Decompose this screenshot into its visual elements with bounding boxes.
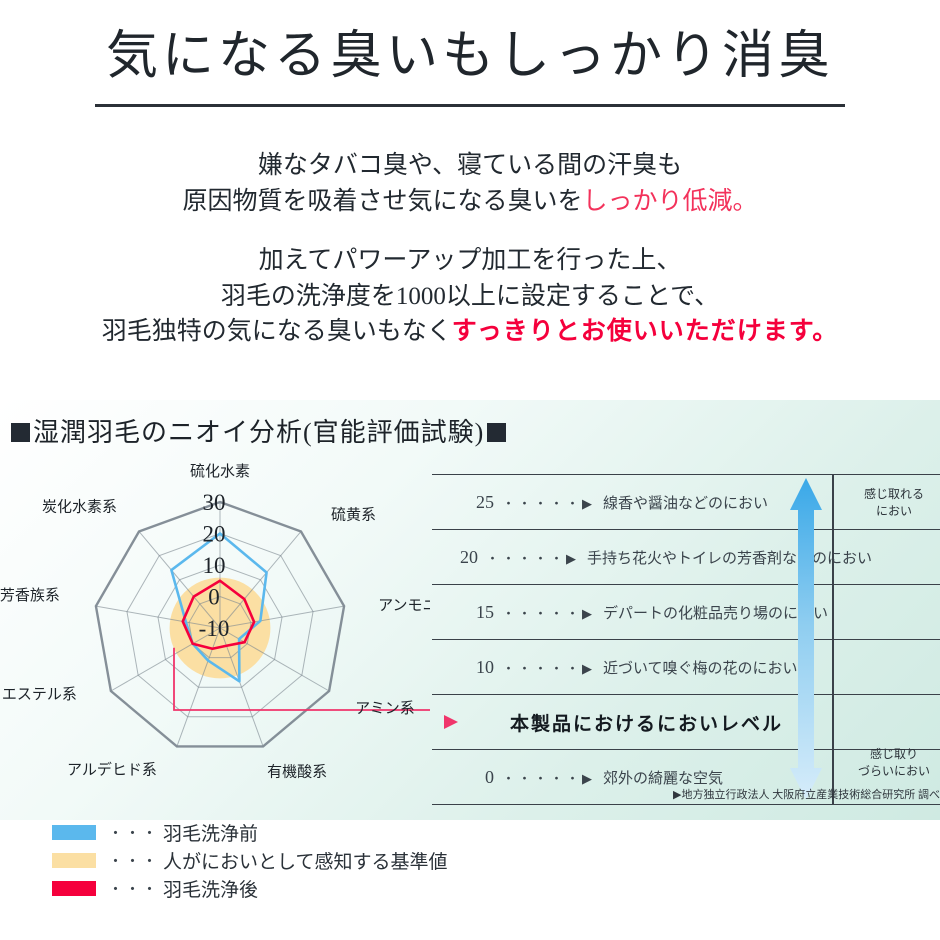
legend-label: 人がにおいとして感知する基準値 (163, 847, 447, 874)
scale-row: 10・・・・・▶近づいて嗅ぐ梅の花のにおい (432, 639, 832, 695)
legend-label: 羽毛洗浄後 (163, 875, 258, 902)
scale-description: 郊外の綺麗な空気 (603, 767, 723, 788)
copy1-line1: 嫌なタバコ臭や、寝ている間の汗臭も (0, 148, 940, 184)
square-marker-right-icon (487, 423, 506, 442)
legend-swatch (52, 825, 96, 840)
section-heading: 湿潤羽毛のニオイ分析(官能評価試験) (8, 412, 509, 449)
copy2-line3-plain: 羽毛独特の気になる臭いもなく (102, 318, 452, 345)
title-divider (95, 104, 845, 107)
legend-dots-icon: ・・・ (108, 822, 159, 843)
legend-dots-icon: ・・・ (108, 878, 159, 899)
radar-category-label: 有機酸系 (267, 763, 327, 780)
scale-row: 20・・・・・▶手持ち花火やトイレの芳香剤などのにおい (432, 529, 832, 585)
body-copy-block-2: 加えてパワーアップ加工を行った上、 羽毛の洗浄度を1000以上に設定することで、… (0, 243, 940, 350)
radar-category-label: 硫化水素 (190, 463, 250, 480)
caption-imperceptible-odor: 感じ取り づらいにおい (844, 746, 940, 781)
source-credit: ▶地方独立行政法人 大阪府立産業技術総合研究所 調べ (432, 786, 940, 802)
legend-item: ・・・人がにおいとして感知する基準値 (52, 846, 447, 874)
radar-category-label: アンモニア (378, 598, 430, 614)
radar-tick-label: 30 (203, 490, 226, 515)
scale-row-right-cell (832, 584, 940, 640)
radar-category-label: エステル系 (2, 686, 77, 703)
copy2-line3: 羽毛独特の気になる臭いもなくすっきりとお使いいただけます。 (0, 314, 940, 350)
radar-category-label: 硫黄系 (331, 506, 376, 523)
copy1-line2: 原因物質を吸着させ気になる臭いをしっかり低減。 (0, 184, 940, 220)
scale-value: 25 (460, 492, 494, 513)
scale-row: 25・・・・・▶線香や醤油などのにおい (432, 474, 832, 530)
copy2-line1: 加えてパワーアップ加工を行った上、 (0, 243, 940, 279)
table-vertical-divider (832, 474, 834, 804)
leader-dots-icon: ・・・・・▶ (502, 493, 595, 512)
legend-swatch (52, 881, 96, 896)
leader-dots-icon: ・・・・・▶ (502, 658, 595, 677)
scale-value: 0 (460, 767, 494, 788)
legend-label: 羽毛洗浄前 (163, 819, 258, 846)
scale-row-product: 本製品におけるにおいレベル (432, 694, 832, 750)
scale-row: 15・・・・・▶デパートの化粧品売り場のにおい (432, 584, 832, 640)
scale-value: 15 (460, 602, 494, 623)
body-copy-block-1: 嫌なタバコ臭や、寝ている間の汗臭も 原因物質を吸着させ気になる臭いをしっかり低減… (0, 148, 940, 219)
radar-tick-label: -10 (199, 616, 230, 641)
product-level-arrow-icon (426, 712, 466, 732)
page-root: 気になる臭いもしっかり消臭 嫌なタバコ臭や、寝ている間の汗臭も 原因物質を吸着さ… (0, 0, 940, 940)
leader-dots-icon: ・・・・・▶ (502, 603, 595, 622)
scale-row-right-cell (832, 529, 940, 585)
scale-value: 20 (460, 547, 478, 568)
scale-description: 線香や醤油などのにおい (603, 492, 768, 513)
radar-category-label: 炭化水素系 (42, 498, 117, 515)
leader-dots-icon: ・・・・・▶ (502, 768, 595, 787)
caption-perceptible-odor: 感じ取れる におい (844, 486, 940, 521)
radar-tick-label: 20 (203, 522, 226, 547)
square-marker-left-icon (11, 423, 30, 442)
radar-category-label: アルデヒド系 (67, 760, 157, 778)
radar-chart: 3020100-10硫化水素硫黄系アンモニアアミン系有機酸系アルデヒド系エステル… (0, 455, 430, 805)
intensity-arrow-icon (780, 476, 832, 802)
scale-table-bottom-border-right (832, 804, 940, 805)
header: 気になる臭いもしっかり消臭 (0, 28, 940, 85)
legend-swatch (52, 853, 96, 868)
scale-description: 近づいて嗅ぐ梅の花のにおい (603, 657, 798, 678)
leader-dots-icon: ・・・・・▶ (486, 548, 579, 567)
legend-item: ・・・羽毛洗浄後 (52, 874, 447, 902)
copy1-line2-emphasis: しっかり低減。 (583, 188, 758, 215)
radar-tick-label: 0 (208, 585, 220, 610)
scale-row-right-cell (832, 694, 940, 750)
radar-category-label: 芳香族系 (0, 587, 60, 604)
legend-item: ・・・羽毛洗浄前 (52, 818, 447, 846)
copy2-line2: 羽毛の洗浄度を1000以上に設定することで、 (0, 279, 940, 315)
page-title: 気になる臭いもしっかり消臭 (0, 28, 940, 85)
section-heading-text: 湿潤羽毛のニオイ分析(官能評価試験) (33, 418, 484, 447)
scale-value: 10 (460, 657, 494, 678)
scale-row-right-cell (832, 639, 940, 695)
radar-category-label: アミン系 (355, 700, 415, 717)
legend-dots-icon: ・・・ (108, 850, 159, 871)
chart-legend: ・・・羽毛洗浄前・・・人がにおいとして感知する基準値・・・羽毛洗浄後 (52, 818, 447, 902)
scale-table-bottom-border (432, 804, 832, 805)
copy1-line2-plain: 原因物質を吸着させ気になる臭いを (182, 188, 582, 215)
radar-tick-label: 10 (203, 553, 226, 578)
odor-scale-table: 25・・・・・▶線香や醤油などのにおい20・・・・・▶手持ち花火やトイレの芳香剤… (432, 474, 940, 804)
scale-description: 本製品におけるにおいレベル (510, 709, 783, 736)
copy2-line3-emphasis: すっきりとお使いいただけます。 (452, 318, 839, 345)
